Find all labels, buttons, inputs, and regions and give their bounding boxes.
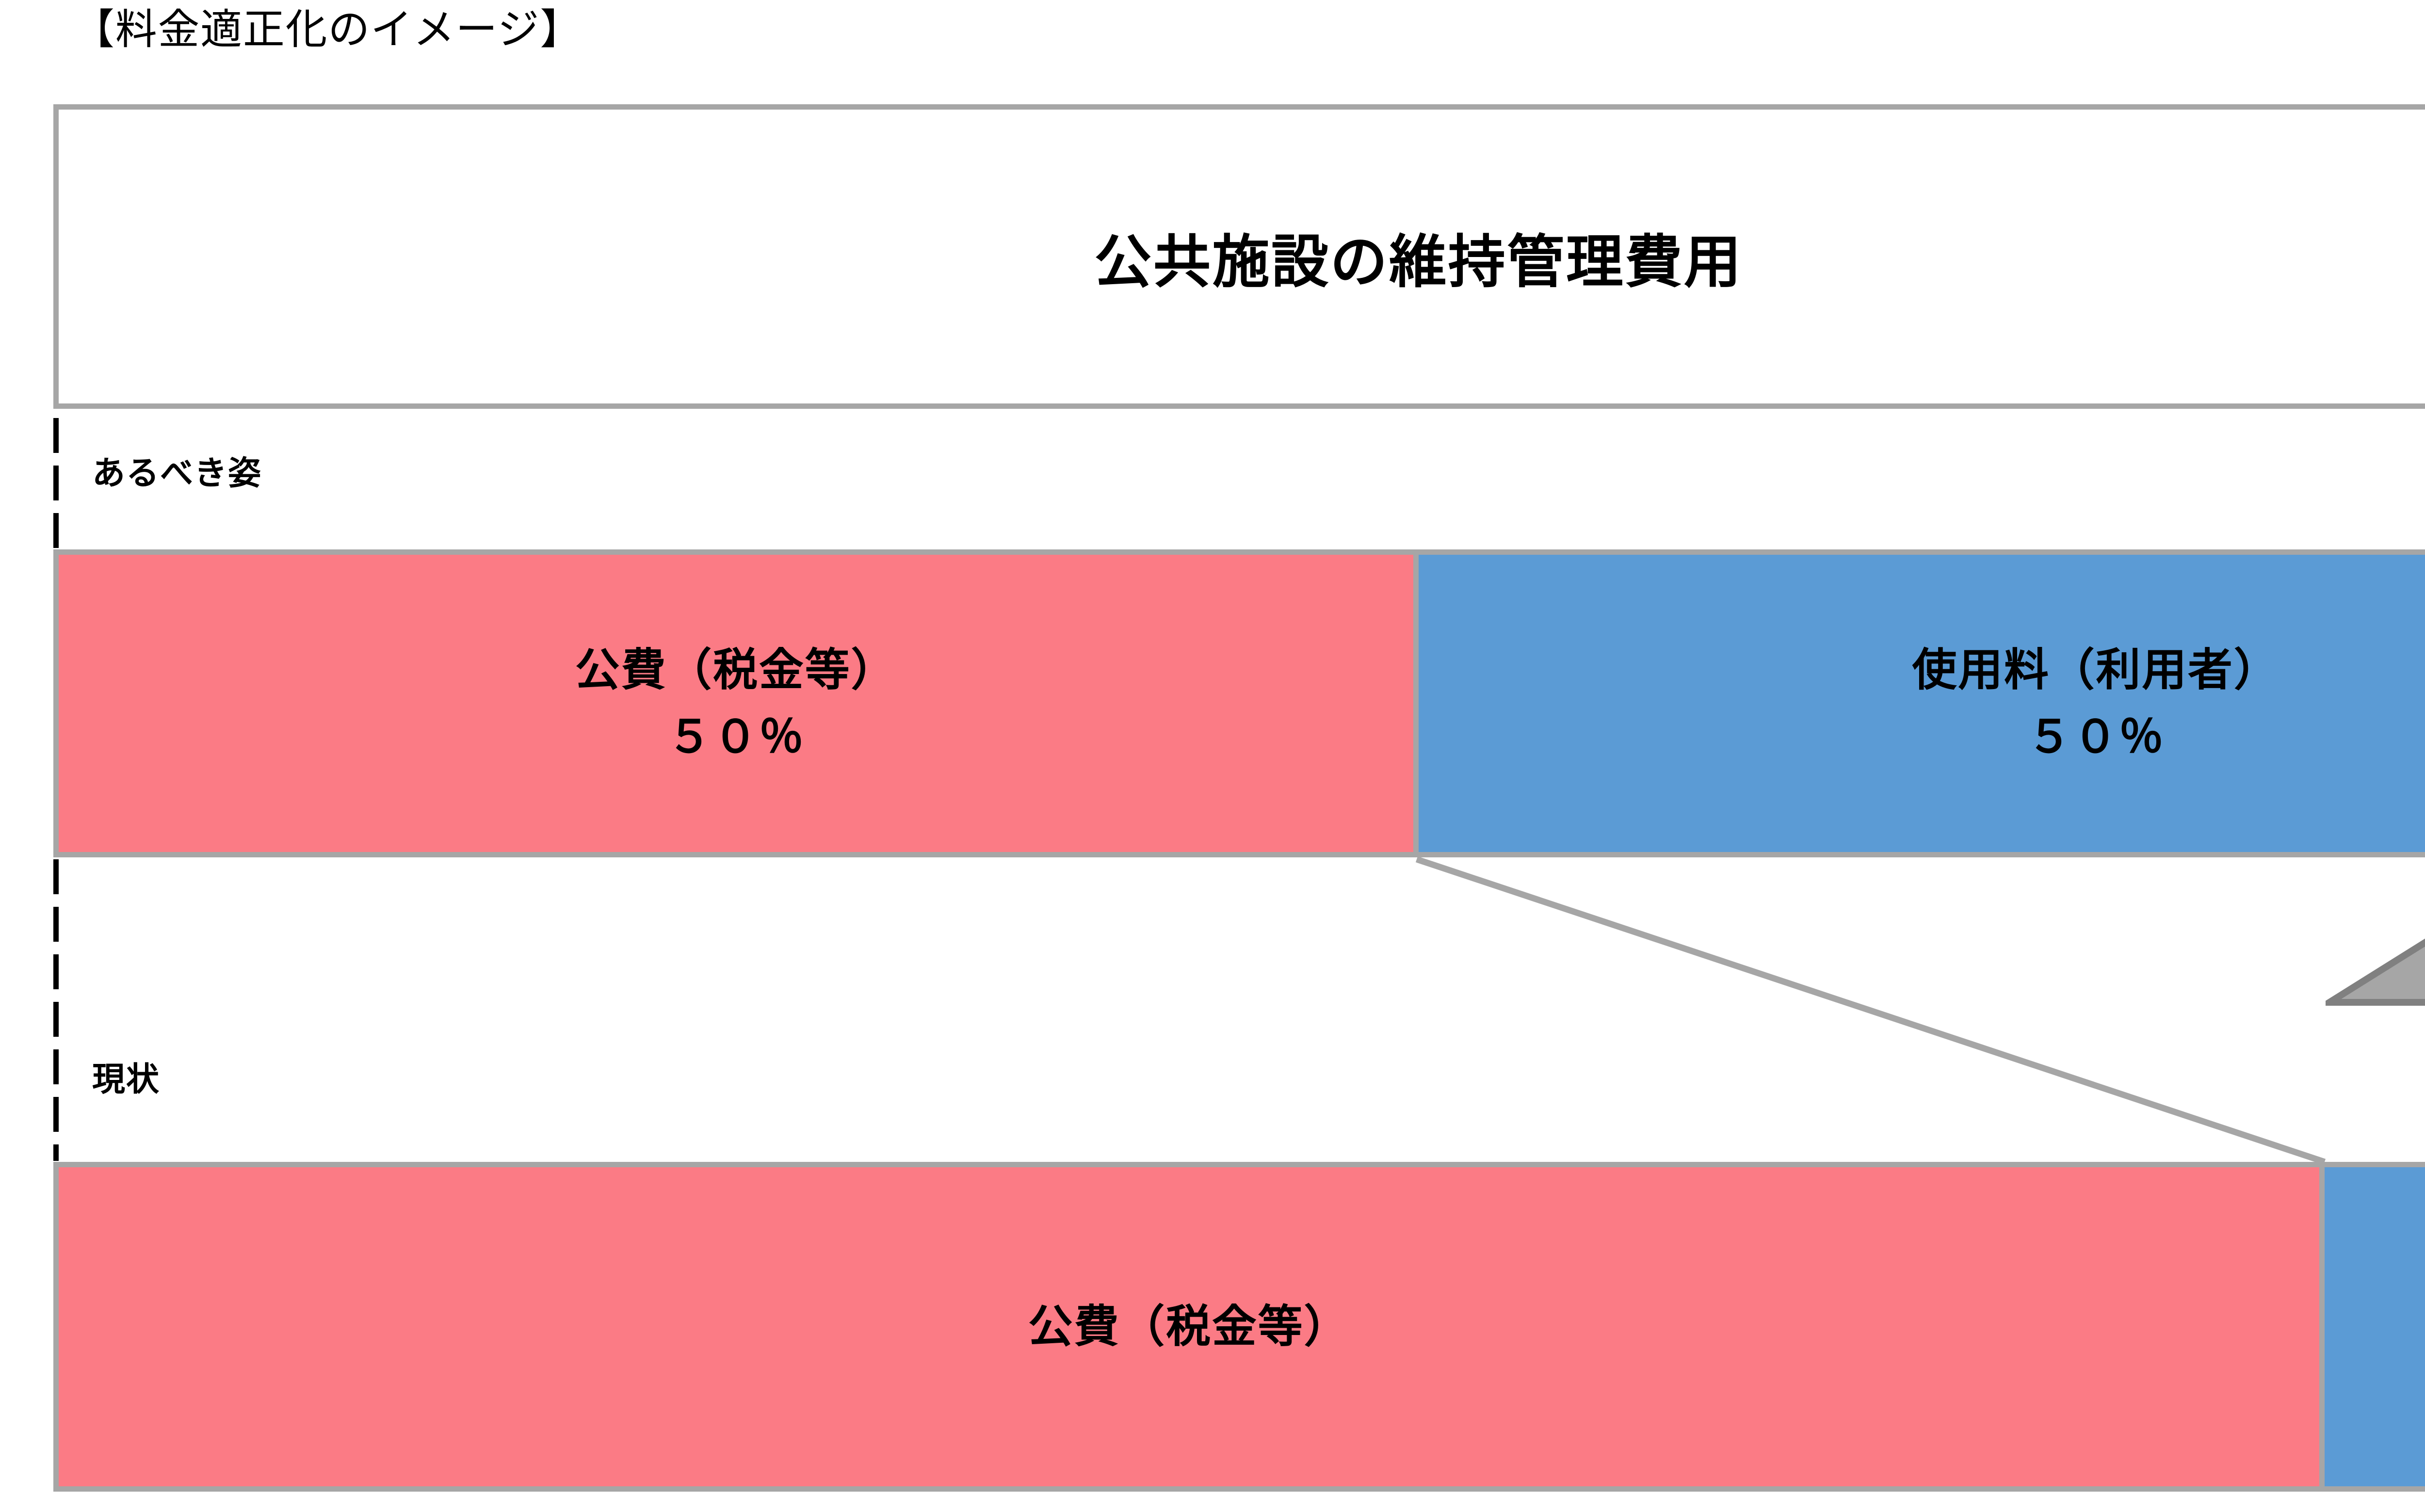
ideal-public-cost-segment: 公費（税金等） ５０％ bbox=[53, 549, 1419, 857]
ideal-state-bar: 公費（税金等） ５０％ 使用料（利用者） ５０％ bbox=[53, 549, 2425, 857]
up-arrow-icon bbox=[2326, 861, 2425, 1141]
current-public-cost-segment: 公費（税金等） bbox=[53, 1162, 2325, 1492]
ideal-user-fee-label: 使用料（利用者） bbox=[1912, 637, 2279, 704]
ideal-user-fee-segment: 使用料（利用者） ５０％ bbox=[1413, 549, 2425, 857]
ideal-public-cost-label: 公費（税金等） bbox=[575, 637, 897, 704]
figure-canvas: 【料金適正化のイメージ】 公共施設の維持管理費用 あるべき姿 公費（税金等） ５… bbox=[0, 0, 2425, 1512]
review-arrow: 見直し bbox=[2326, 861, 2425, 1141]
ideal-bracket-left-dashed-line bbox=[53, 418, 59, 548]
current-bracket-left-dashed-line bbox=[53, 859, 59, 1161]
ideal-public-cost-percent: ５０％ bbox=[667, 704, 805, 771]
ideal-state-caption: あるべき姿 bbox=[92, 446, 262, 494]
figure-heading: 【料金適正化のイメージ】 bbox=[73, 9, 582, 50]
total-cost-label: 公共施設の維持管理費用 bbox=[1095, 215, 1743, 298]
current-user-fee-segment: 使用料 bbox=[2319, 1162, 2425, 1492]
current-state-bar: 公費（税金等） 使用料 bbox=[53, 1162, 2425, 1492]
ideal-user-fee-percent: ５０％ bbox=[2027, 704, 2165, 771]
total-cost-box: 公共施設の維持管理費用 bbox=[53, 104, 2425, 409]
current-state-caption: 現状 bbox=[92, 1052, 160, 1100]
current-public-cost-label: 公費（税金等） bbox=[1028, 1293, 1350, 1360]
